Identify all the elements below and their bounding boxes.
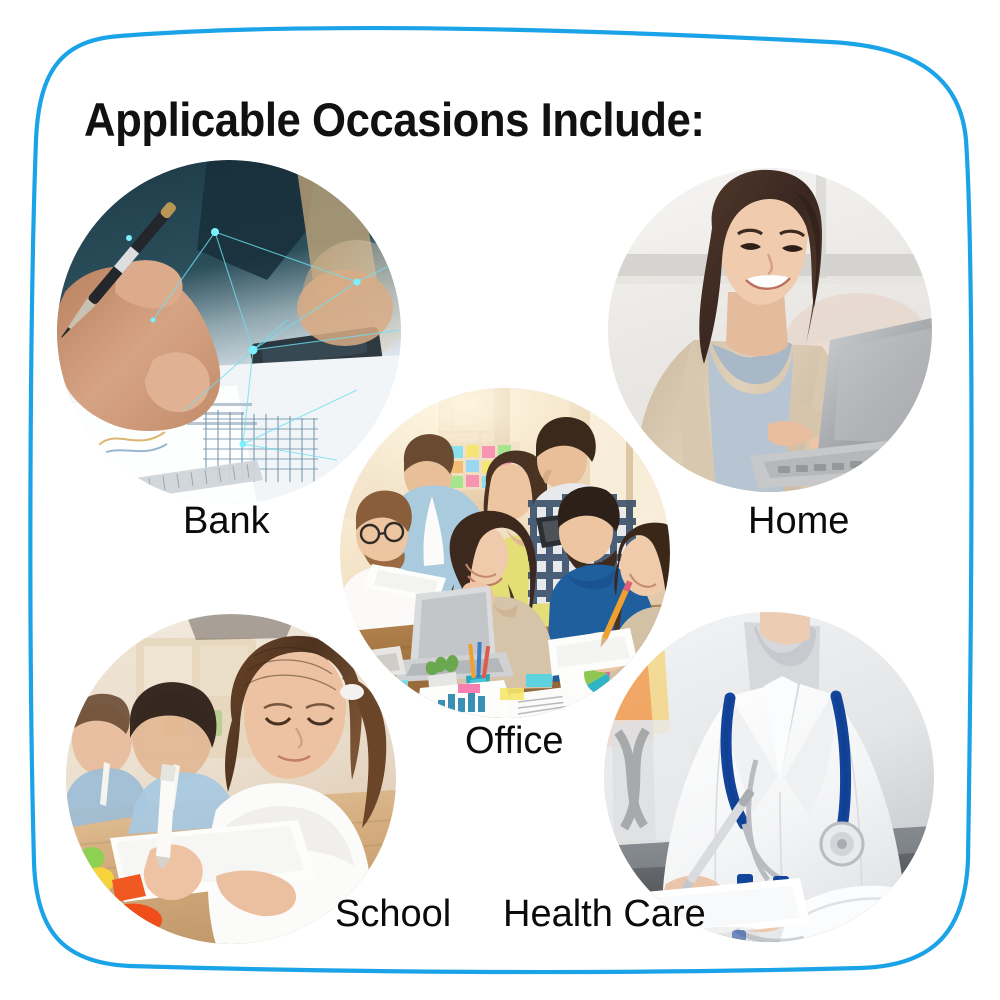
office-photo-icon xyxy=(340,388,670,718)
occasion-label-bank: Bank xyxy=(183,500,270,543)
page-title: Applicable Occasions Include: xyxy=(84,92,704,147)
occasion-label-office: Office xyxy=(465,720,564,763)
occasion-label-school: School xyxy=(335,893,451,936)
occasion-office[interactable] xyxy=(340,388,670,718)
occasion-label-health-care: Health Care xyxy=(503,893,706,936)
occasion-label-home: Home xyxy=(748,500,849,543)
